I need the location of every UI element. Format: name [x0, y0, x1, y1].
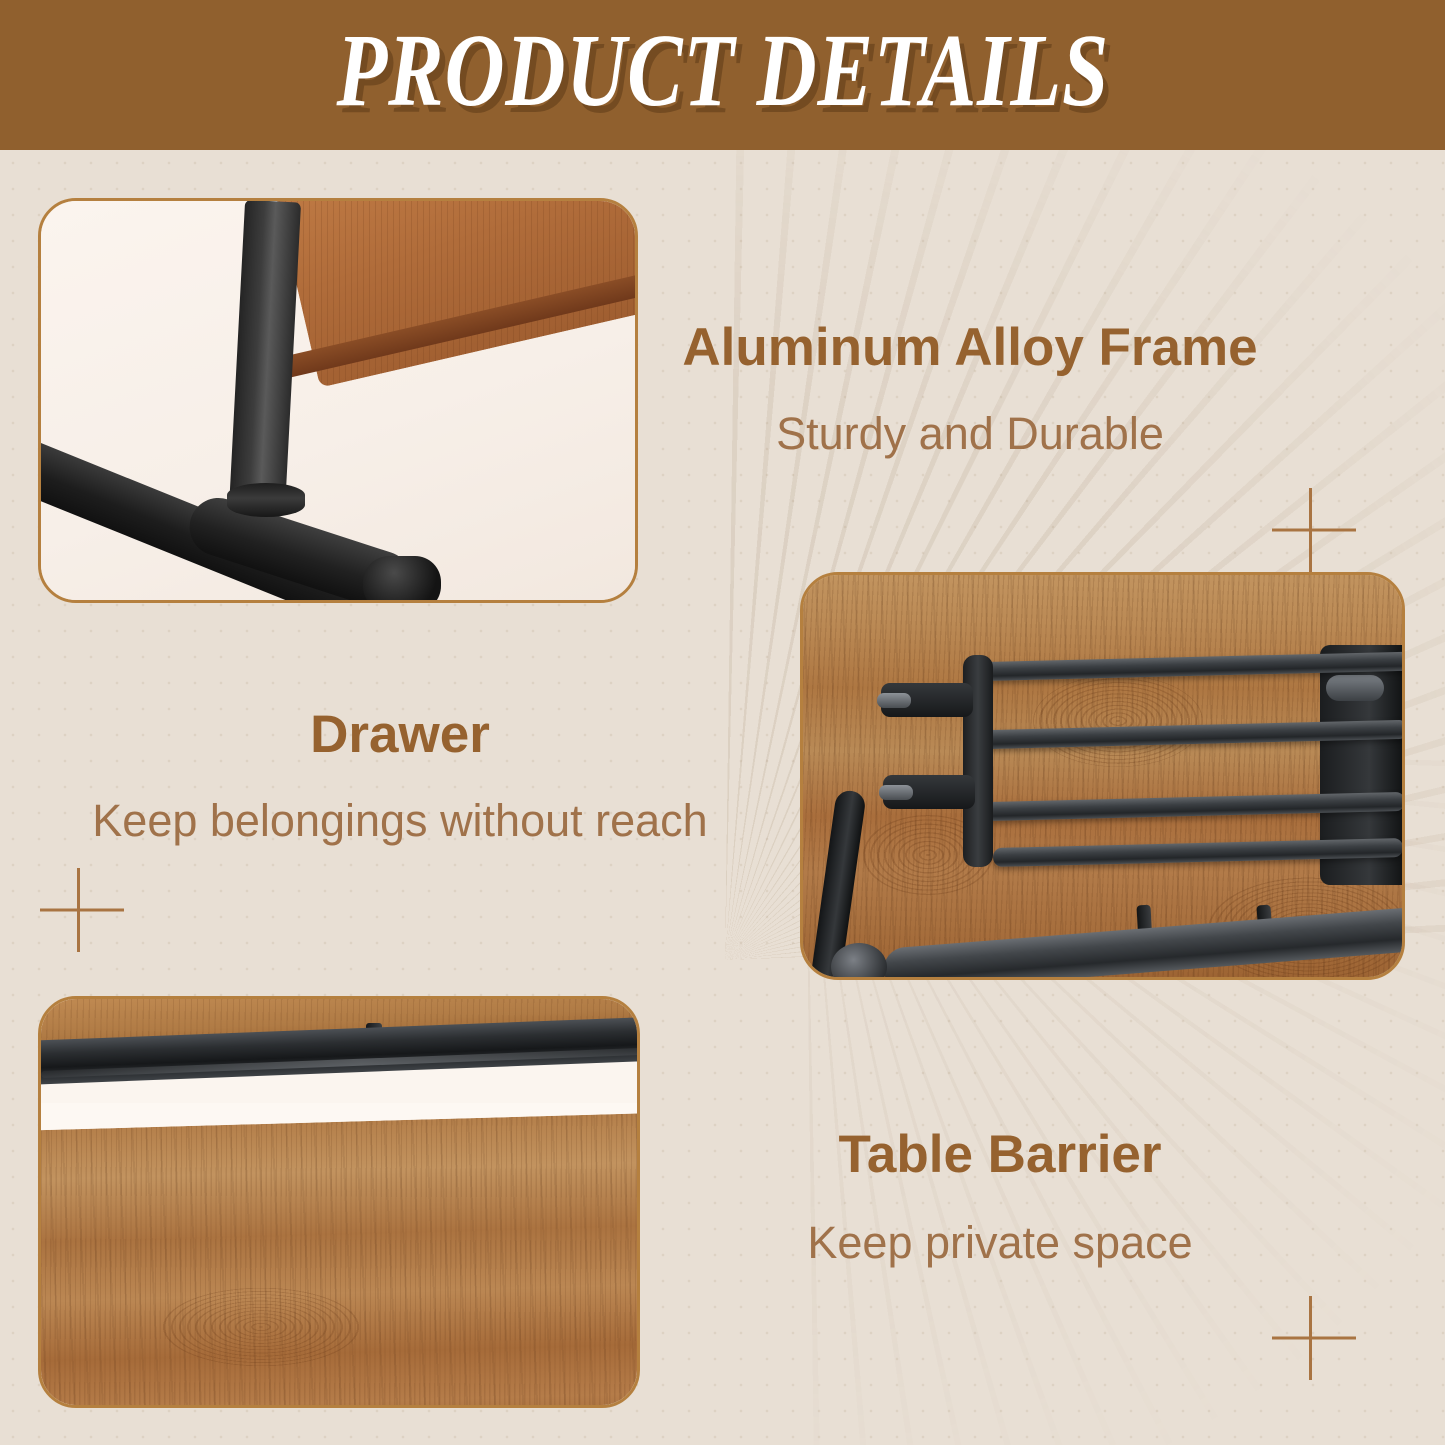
feature-block-table-barrier: Table Barrier Keep private space	[740, 1125, 1260, 1270]
plus-horizontal-stroke	[1272, 529, 1356, 532]
drawer-frame-photo	[803, 575, 1402, 977]
plus-mark-icon	[1272, 488, 1356, 572]
plus-vertical-stroke	[77, 868, 80, 952]
drawer-bracket-pin	[877, 693, 911, 708]
feature-title: Aluminum Alloy Frame	[660, 318, 1280, 379]
table-leg-collar	[227, 483, 305, 517]
feature-subtitle: Keep belongings without reach	[75, 794, 725, 848]
plus-vertical-stroke	[1309, 1296, 1312, 1380]
plus-horizontal-stroke	[40, 909, 124, 912]
wood-table-surface	[38, 1112, 640, 1408]
feature-block-drawer: Drawer Keep belongings without reach	[75, 705, 725, 848]
plus-vertical-stroke	[1309, 488, 1312, 572]
drawer-bracket-pin	[879, 785, 913, 800]
wood-grain-knot	[1033, 675, 1203, 767]
frame-right-end-cap	[1326, 675, 1384, 701]
plus-mark-icon	[40, 868, 124, 952]
table-barrier-photo	[41, 999, 637, 1405]
header-banner: PRODUCT DETAILS	[0, 0, 1445, 150]
table-leg-base-photo	[41, 201, 635, 600]
wood-grain-knot	[161, 1287, 361, 1367]
photo-panel-drawer-frame	[800, 572, 1405, 980]
feature-block-aluminum-alloy-frame: Aluminum Alloy Frame Sturdy and Durable	[660, 318, 1280, 461]
photo-panel-table-leg	[38, 198, 638, 603]
plus-mark-icon	[1272, 1296, 1356, 1380]
product-details-infographic: PRODUCT DETAILS	[0, 0, 1445, 1445]
table-base-foot	[363, 556, 441, 603]
page-title: PRODUCT DETAILS	[336, 19, 1108, 131]
feature-title: Table Barrier	[740, 1125, 1260, 1186]
plus-horizontal-stroke	[1272, 1337, 1356, 1340]
photo-panel-table-barrier	[38, 996, 640, 1408]
feature-title: Drawer	[75, 705, 725, 766]
feature-subtitle: Sturdy and Durable	[660, 407, 1280, 461]
feature-subtitle: Keep private space	[740, 1216, 1260, 1270]
